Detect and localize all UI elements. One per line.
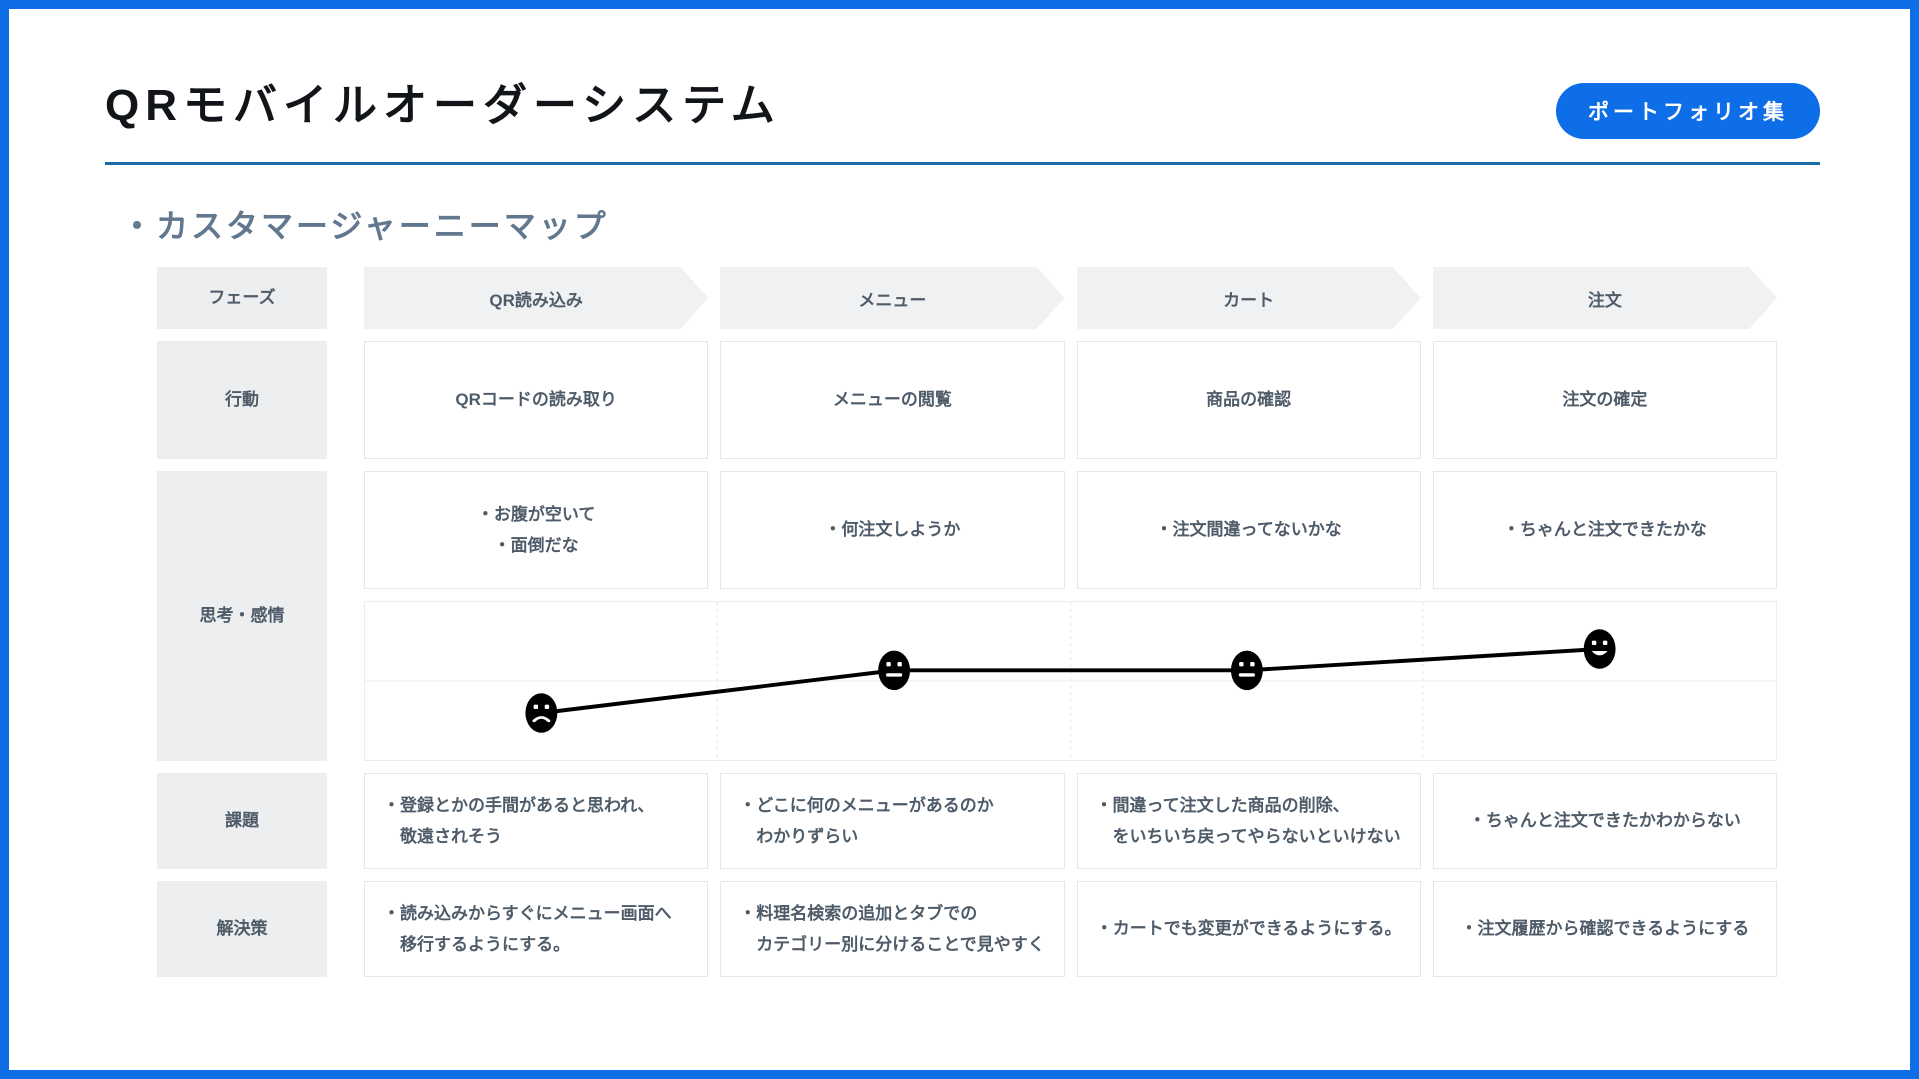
thought-cell-3: ・ちゃんと注文できたかな bbox=[1433, 471, 1777, 589]
row-label-action: 行動 bbox=[157, 341, 327, 459]
thought-emotion-block: 思考・感情 ・お腹が空いて・面倒だな ・何注文しようか ・注文間違ってないかな … bbox=[157, 471, 1777, 761]
solution-cell-1: ・料理名検索の追加とタブでの カテゴリー別に分けることで見やすく bbox=[720, 881, 1064, 977]
phase-cells: QR読み込み メニュー カート 注文 bbox=[364, 267, 1777, 329]
page-header: QRモバイルオーダーシステム ポートフォリオ集 bbox=[105, 47, 1820, 165]
issue-cell-3: ・ちゃんと注文できたかわからない bbox=[1433, 773, 1777, 869]
action-cells: QRコードの読み取り メニューの閲覧 商品の確認 注文の確定 bbox=[364, 341, 1777, 459]
thought-row: ・お腹が空いて・面倒だな ・何注文しようか ・注文間違ってないかな ・ちゃんと注… bbox=[157, 471, 1777, 589]
header-divider bbox=[105, 162, 1820, 165]
neutral-face bbox=[1231, 651, 1263, 691]
chart-gridlines bbox=[365, 602, 1776, 760]
phase-chevron-1[interactable]: メニュー bbox=[720, 267, 1064, 329]
text-line: をいちいち戻ってやらないといけない bbox=[1096, 821, 1401, 852]
solution-lines-0: ・読み込みからすぐにメニュー画面へ 移行するようにする。 bbox=[383, 898, 672, 961]
solution-row: 解決策 ・読み込みからすぐにメニュー画面へ 移行するようにする。 ・料理名検索の… bbox=[157, 881, 1777, 977]
phase-row: フェーズ QR読み込み メニュー カート 注文 bbox=[157, 267, 1777, 329]
solution-cells: ・読み込みからすぐにメニュー画面へ 移行するようにする。 ・料理名検索の追加とタ… bbox=[364, 881, 1777, 977]
solution-cell-3: ・注文履歴から確認できるようにする bbox=[1433, 881, 1777, 977]
text-line: カテゴリー別に分けることで見やすく bbox=[739, 929, 1045, 960]
solution-cell-2: ・カートでも変更ができるようにする。 bbox=[1077, 881, 1421, 977]
emotion-chart-row bbox=[157, 601, 1777, 761]
text-line: ・登録とかの手間があると思われ、 bbox=[383, 790, 654, 821]
action-cell-3: 注文の確定 bbox=[1433, 341, 1777, 459]
neutral-face bbox=[878, 651, 910, 691]
text-line: ・ちゃんと注文できたかわからない bbox=[1469, 805, 1741, 836]
text-line: ・何注文しようか bbox=[824, 514, 960, 545]
issue-lines-0: ・登録とかの手間があると思われ、 敬遠されそう bbox=[383, 790, 654, 853]
thought-lines-1: ・何注文しようか bbox=[824, 514, 960, 545]
text-line: ・ちゃんと注文できたかな bbox=[1503, 514, 1707, 545]
page-title: QRモバイルオーダーシステム bbox=[105, 69, 781, 133]
text-line: ・注文間違ってないかな bbox=[1156, 514, 1342, 545]
thought-cells: ・お腹が空いて・面倒だな ・何注文しようか ・注文間違ってないかな ・ちゃんと注… bbox=[364, 471, 1777, 589]
action-cell-0: QRコードの読み取り bbox=[364, 341, 708, 459]
row-label-issue: 課題 bbox=[157, 773, 327, 869]
thought-cell-0: ・お腹が空いて・面倒だな bbox=[364, 471, 708, 589]
phase-chevron-2[interactable]: カート bbox=[1077, 267, 1421, 329]
thought-cell-2: ・注文間違ってないかな bbox=[1077, 471, 1421, 589]
thought-lines-3: ・ちゃんと注文できたかな bbox=[1503, 514, 1707, 545]
sad-face bbox=[525, 693, 557, 733]
text-line: ・カートでも変更ができるようにする。 bbox=[1096, 913, 1402, 944]
issue-lines-2: ・間違って注文した商品の削除、 をいちいち戻ってやらないといけない bbox=[1096, 790, 1401, 853]
portfolio-button[interactable]: ポートフォリオ集 bbox=[1556, 83, 1820, 139]
solution-cell-0: ・読み込みからすぐにメニュー画面へ 移行するようにする。 bbox=[364, 881, 708, 977]
text-line: ・どこに何のメニューがあるのか bbox=[739, 790, 994, 821]
action-cell-1: メニューの閲覧 bbox=[720, 341, 1064, 459]
solution-lines-1: ・料理名検索の追加とタブでの カテゴリー別に分けることで見やすく bbox=[739, 898, 1045, 961]
issue-row: 課題 ・登録とかの手間があると思われ、 敬遠されそう ・どこに何のメニューがある… bbox=[157, 773, 1777, 869]
thought-lines-0: ・お腹が空いて・面倒だな bbox=[477, 499, 596, 562]
row-label-solution: 解決策 bbox=[157, 881, 327, 977]
thought-cell-1: ・何注文しようか bbox=[720, 471, 1064, 589]
text-line: ・注文履歴から確認できるようにする bbox=[1460, 913, 1749, 944]
thought-lines-2: ・注文間違ってないかな bbox=[1156, 514, 1342, 545]
text-line: ・読み込みからすぐにメニュー画面へ bbox=[383, 898, 672, 929]
issue-cell-1: ・どこに何のメニューがあるのか わかりずらい bbox=[720, 773, 1064, 869]
issue-lines-3: ・ちゃんと注文できたかわからない bbox=[1469, 805, 1741, 836]
phase-chevron-3[interactable]: 注文 bbox=[1433, 267, 1777, 329]
customer-journey-map: フェーズ QR読み込み メニュー カート 注文 行動 QRコードの読み取り メニ… bbox=[157, 267, 1777, 989]
row-label-thought: 思考・感情 bbox=[157, 471, 327, 761]
solution-lines-2: ・カートでも変更ができるようにする。 bbox=[1096, 913, 1402, 944]
happy-face bbox=[1584, 629, 1616, 669]
text-line: ・お腹が空いて bbox=[477, 499, 596, 530]
text-line: 移行するようにする。 bbox=[383, 929, 672, 960]
text-line: 敬遠されそう bbox=[383, 821, 654, 852]
solution-lines-3: ・注文履歴から確認できるようにする bbox=[1460, 913, 1749, 944]
issue-cell-0: ・登録とかの手間があると思われ、 敬遠されそう bbox=[364, 773, 708, 869]
row-label-phase: フェーズ bbox=[157, 267, 327, 329]
action-row: 行動 QRコードの読み取り メニューの閲覧 商品の確認 注文の確定 bbox=[157, 341, 1777, 459]
emotion-curve-chart bbox=[364, 601, 1777, 761]
phase-chevron-0[interactable]: QR読み込み bbox=[364, 267, 708, 329]
issue-lines-1: ・どこに何のメニューがあるのか わかりずらい bbox=[739, 790, 994, 853]
action-cell-2: 商品の確認 bbox=[1077, 341, 1421, 459]
issue-cells: ・登録とかの手間があると思われ、 敬遠されそう ・どこに何のメニューがあるのか … bbox=[364, 773, 1777, 869]
section-heading: ・カスタマージャーニーマップ bbox=[121, 201, 609, 247]
issue-cell-2: ・間違って注文した商品の削除、 をいちいち戻ってやらないといけない bbox=[1077, 773, 1421, 869]
text-line: わかりずらい bbox=[739, 821, 994, 852]
text-line: ・面倒だな bbox=[477, 530, 596, 561]
slide-frame: QRモバイルオーダーシステム ポートフォリオ集 ・カスタマージャーニーマップ フ… bbox=[9, 9, 1910, 1070]
text-line: ・間違って注文した商品の削除、 bbox=[1096, 790, 1401, 821]
text-line: ・料理名検索の追加とタブでの bbox=[739, 898, 1045, 929]
emotion-svg bbox=[365, 602, 1776, 760]
